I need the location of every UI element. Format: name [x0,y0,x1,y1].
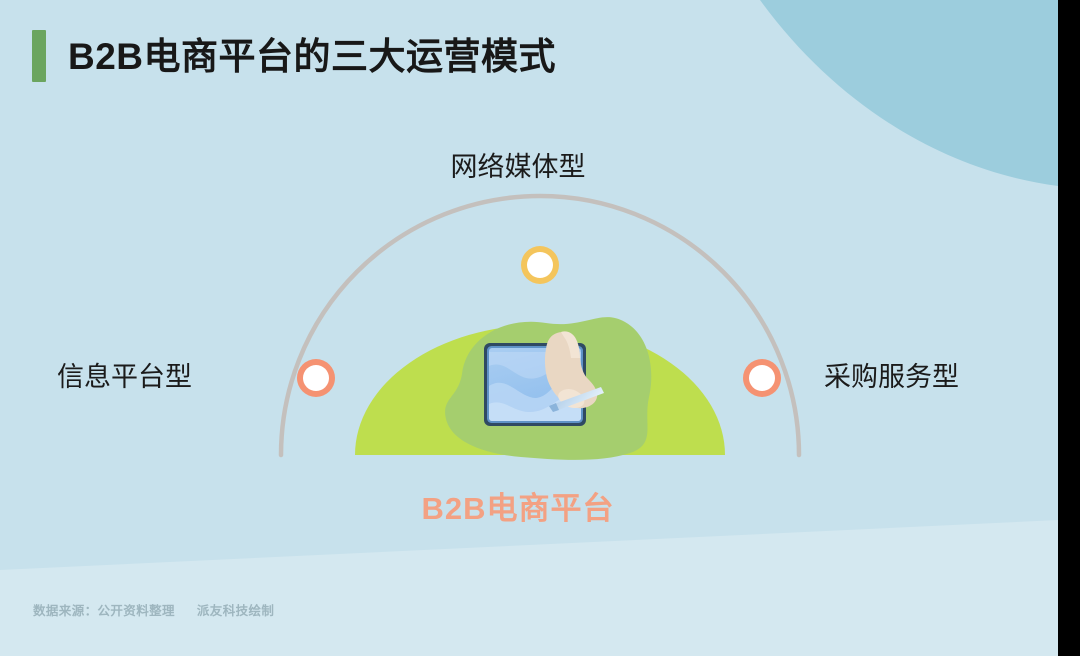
node-label-right: 采购服务型 [824,364,959,391]
diagram-container: 网络媒体型 信息平台型 采购服务型 B2B电商平台 [0,0,1058,656]
node-marker-top-inner [527,252,553,278]
right-gutter [1058,0,1080,656]
node-label-left: 信息平台型 [57,364,192,391]
node-label-top: 网络媒体型 [0,154,1058,181]
footer-source-label: 数据来源：公开资料整理 [33,604,175,618]
slide-canvas: B2B电商平台的三大运营模式 [0,0,1058,656]
node-marker-left-inner [303,365,329,391]
center-caption: B2B电商平台 [0,493,1058,524]
footer-credit-label: 派友科技绘制 [197,604,274,618]
node-marker-right-inner [749,365,775,391]
diagram-graphics [0,0,1058,656]
footer-source: 数据来源：公开资料整理派友科技绘制 [33,600,274,619]
